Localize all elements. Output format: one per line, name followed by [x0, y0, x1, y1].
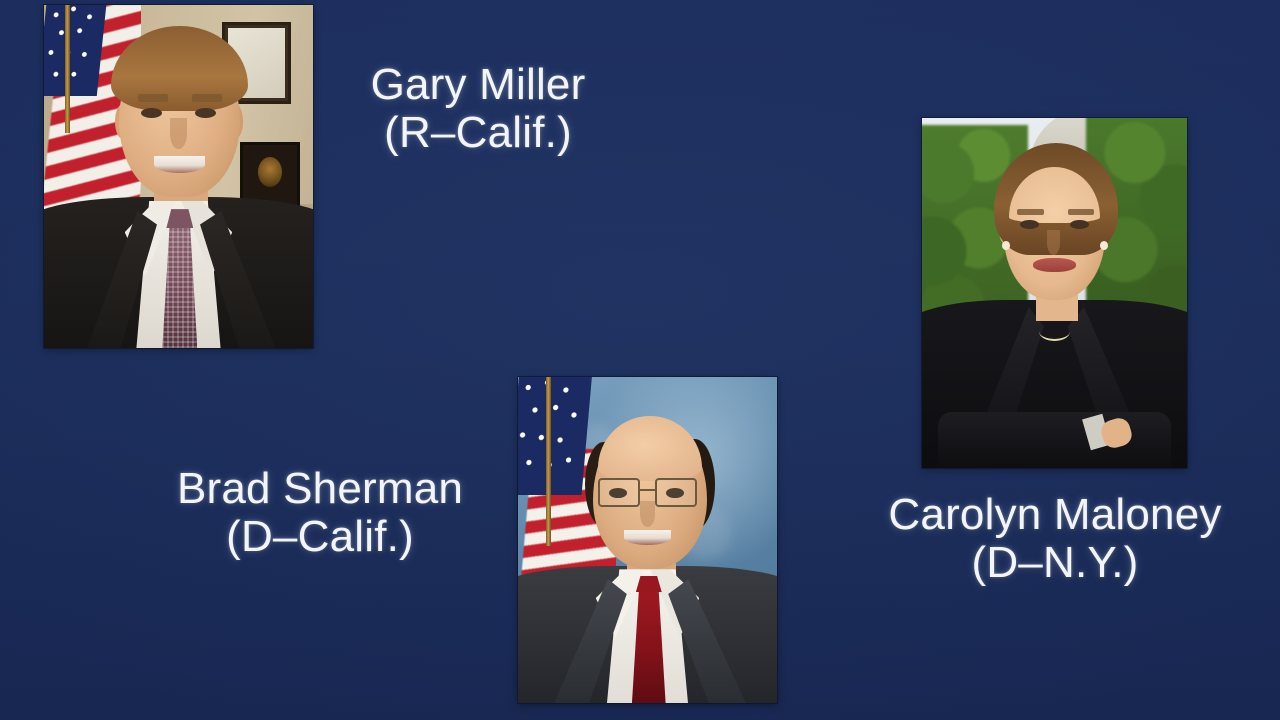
nose: [640, 501, 656, 527]
eye-right: [1070, 220, 1089, 229]
caption-name: Brad Sherman: [146, 466, 494, 512]
earring-left: [1002, 241, 1010, 250]
eyebrow-left: [138, 94, 168, 102]
earring-right: [1100, 241, 1108, 250]
eye-left: [1020, 220, 1039, 229]
caption-affiliation: (R–Calif.): [336, 110, 620, 156]
caption-affiliation: (D–Calif.): [146, 514, 494, 560]
caption-brad-sherman: Brad Sherman (D–Calif.): [146, 466, 494, 560]
nose: [1047, 230, 1060, 255]
mouth: [624, 530, 671, 545]
eyeglasses-icon: [598, 478, 639, 507]
caption-name: Gary Miller: [336, 62, 620, 108]
slide-canvas: Gary Miller (R–Calif.) Caroly: [0, 0, 1280, 720]
caption-affiliation: (D–N.Y.): [855, 540, 1255, 586]
eyebrow-right: [1068, 209, 1095, 215]
mouth: [1033, 258, 1075, 272]
nose: [170, 118, 186, 149]
necklace: [1039, 321, 1071, 341]
caption-gary-miller: Gary Miller (R–Calif.): [336, 62, 620, 156]
portrait-photo-gary-miller: [44, 5, 313, 348]
portrait-photo-carolyn-maloney: [922, 118, 1187, 468]
eyebrow-right: [192, 94, 222, 102]
crossed-arms: [938, 412, 1171, 468]
caption-carolyn-maloney: Carolyn Maloney (D–N.Y.): [855, 492, 1255, 586]
eyeglasses-bridge: [640, 489, 656, 491]
caption-name: Carolyn Maloney: [855, 492, 1255, 538]
eyeglasses-lens-right: [655, 478, 696, 507]
eyebrow-left: [1017, 209, 1044, 215]
portrait-photo-brad-sherman: [518, 377, 777, 703]
